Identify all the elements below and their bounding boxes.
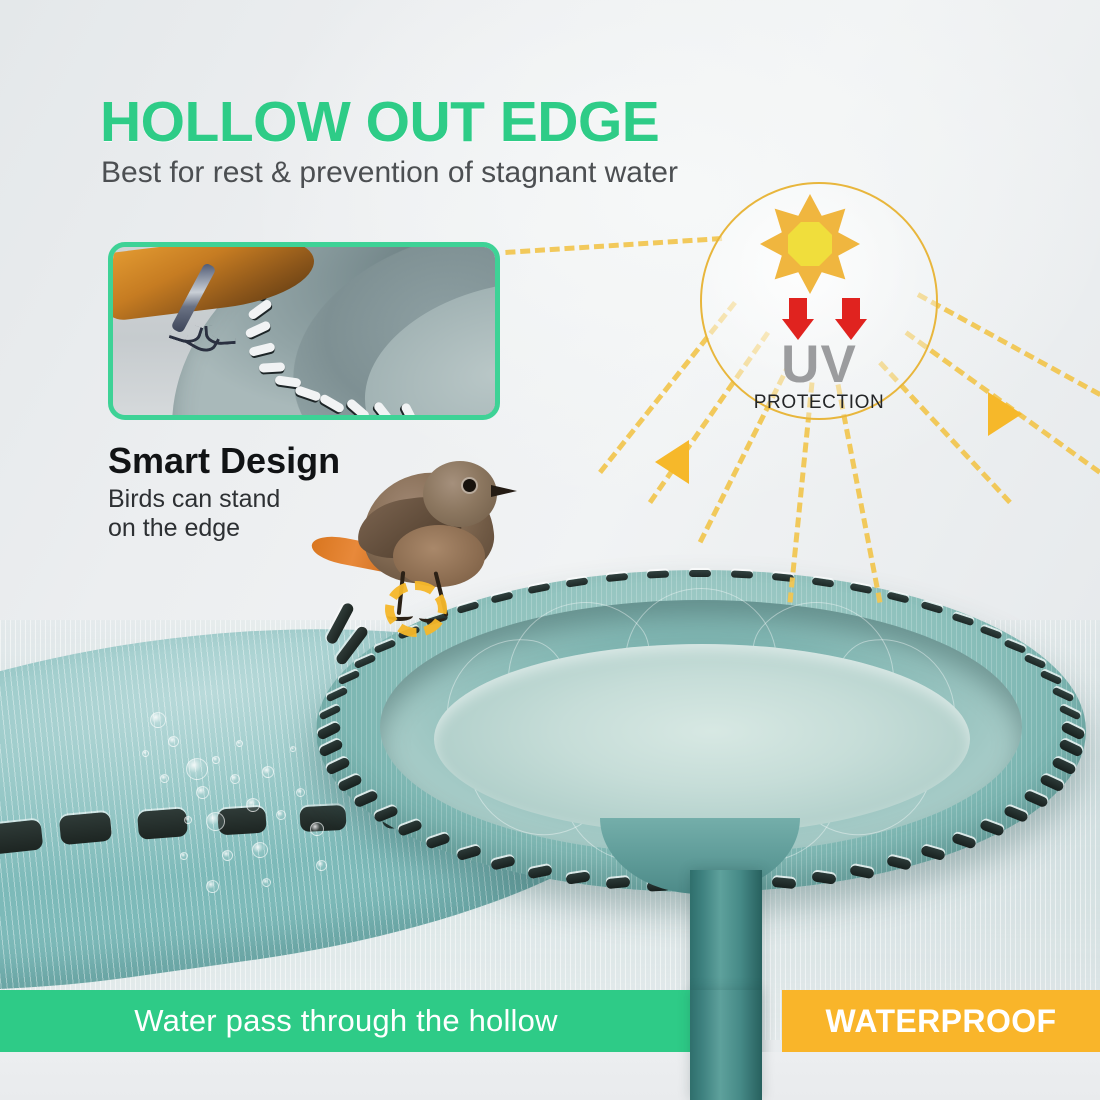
infographic-canvas: HOLLOW OUT EDGE Best for rest & preventi… <box>0 0 1100 1100</box>
water-droplet <box>180 852 188 860</box>
hollow-slot <box>920 601 943 614</box>
water-droplet <box>196 786 209 799</box>
hollow-slot <box>1023 789 1049 808</box>
hollow-slot <box>920 845 946 861</box>
hollow-slot <box>886 855 912 870</box>
water-droplet <box>150 712 166 728</box>
hollow-slot <box>689 570 711 577</box>
water-droplet <box>222 850 233 861</box>
uv-ray-arrow-right <box>988 392 1022 436</box>
bird-eye <box>463 479 476 492</box>
water-droplet <box>262 766 274 778</box>
hollow-slot <box>606 573 629 582</box>
hollow-slot <box>337 670 360 686</box>
hollow-slot <box>527 864 552 879</box>
hollow-slot <box>425 833 451 850</box>
hollow-slot <box>730 570 752 578</box>
water-droplet <box>246 798 260 812</box>
hollow-slot <box>373 805 399 823</box>
inset-bird-claw <box>171 321 257 359</box>
hollow-slot <box>374 639 397 654</box>
water-droplet <box>186 758 208 780</box>
banner-water-pass: Water pass through the hollow <box>0 990 692 1052</box>
hollow-slot <box>1024 654 1047 669</box>
banner-waterproof: WATERPROOF <box>782 990 1100 1052</box>
bottom-strip <box>0 1052 1100 1100</box>
hollow-slot <box>979 625 1002 639</box>
hollow-slot <box>811 577 834 587</box>
hollow-slot <box>353 789 379 808</box>
hollow-slot <box>979 819 1005 837</box>
hollow-slot <box>337 773 363 792</box>
inset-photo <box>113 247 495 415</box>
water-droplet <box>206 812 225 831</box>
water-droplet <box>236 740 243 747</box>
hollow-slot <box>372 400 395 415</box>
hollow-slot <box>647 570 669 578</box>
hollow-slot <box>397 819 423 837</box>
hollow-slot <box>318 393 345 414</box>
hollow-slot <box>1040 670 1063 686</box>
uv-protection-label: PROTECTION <box>700 392 938 414</box>
banner-water-pass-label: Water pass through the hollow <box>0 990 692 1052</box>
down-arrow-icon <box>782 298 814 340</box>
bird-head <box>423 461 497 527</box>
hollow-slot <box>1003 639 1026 654</box>
inset-photo-card <box>108 242 500 420</box>
smart-design-description: Birds can stand on the edge <box>108 485 280 543</box>
hollow-slot <box>456 845 482 861</box>
hollow-slot <box>1051 687 1074 703</box>
page-subtitle: Best for rest & prevention of stagnant w… <box>101 156 678 190</box>
hollow-slot <box>850 583 873 594</box>
hollow-slot <box>1060 721 1086 741</box>
uv-label: UV <box>700 338 938 391</box>
hollow-slot <box>400 402 420 415</box>
hollow-slot <box>606 877 631 889</box>
water-droplet <box>160 774 169 783</box>
water-droplet <box>168 736 179 747</box>
water-droplet <box>276 810 286 820</box>
hollow-slot <box>1039 773 1065 792</box>
hollow-slot <box>951 833 977 850</box>
hollow-slot <box>319 704 342 720</box>
hollow-slot <box>1003 805 1029 823</box>
water-droplet <box>262 878 271 887</box>
hollow-slot <box>850 864 875 879</box>
bird-beak <box>491 485 517 497</box>
page-title: HOLLOW OUT EDGE <box>100 93 659 151</box>
uv-ray-dashed-line <box>505 236 722 255</box>
hollow-slot <box>316 721 342 741</box>
feet-highlight-ring <box>385 581 447 637</box>
water-droplet <box>230 774 240 784</box>
hollow-slot <box>294 385 322 402</box>
hollow-slot <box>1058 704 1081 720</box>
hollow-slot <box>318 739 344 758</box>
hollow-slot <box>1051 756 1077 775</box>
hollow-slot <box>811 871 836 884</box>
hollow-slot <box>490 855 516 870</box>
hollow-slot <box>345 398 371 415</box>
hollow-slot <box>771 877 796 889</box>
water-droplet <box>290 746 296 752</box>
product-photo <box>0 560 1100 1030</box>
water-droplet <box>212 756 220 764</box>
smart-design-title: Smart Design <box>108 440 340 482</box>
hollow-slot <box>566 871 591 884</box>
water-droplet <box>142 750 149 757</box>
down-arrow-icon <box>835 298 867 340</box>
sun-icon <box>758 192 862 296</box>
hollow-slot <box>325 756 351 775</box>
hollow-slot <box>566 577 589 587</box>
water-droplet <box>252 842 268 858</box>
water-droplet <box>206 880 219 893</box>
uv-ray-dashed-line <box>917 292 1100 396</box>
hollow-slot <box>326 687 349 703</box>
hollow-slot <box>259 362 285 372</box>
banner-waterproof-label: WATERPROOF <box>782 990 1100 1052</box>
hollow-slot <box>1058 739 1084 758</box>
hollow-slot <box>353 654 376 669</box>
uv-ray-arrow-left <box>655 440 689 484</box>
water-droplet <box>184 816 192 824</box>
hollow-slot <box>886 591 909 603</box>
hollow-slot <box>951 612 974 626</box>
pedestal-front-of-banners <box>690 990 762 1100</box>
bird-on-edge <box>315 455 545 635</box>
